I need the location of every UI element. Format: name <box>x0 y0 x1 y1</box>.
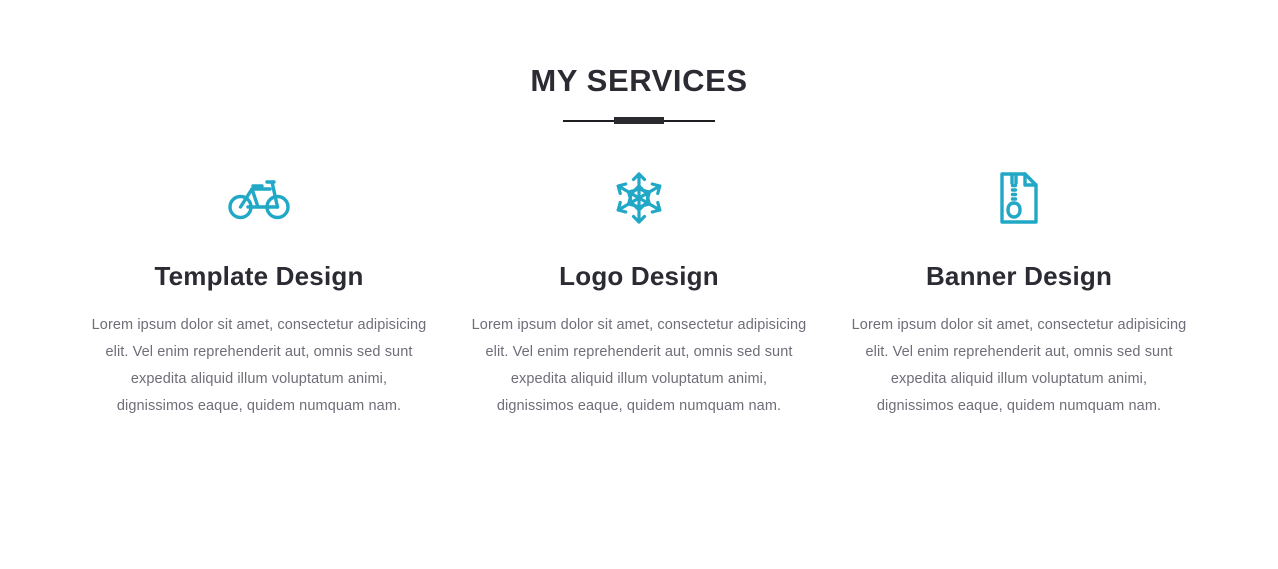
service-card-template-design[interactable]: Template Design Lorem ipsum dolor sit am… <box>69 170 449 420</box>
page-title: MY SERVICES <box>0 64 1278 98</box>
service-card-logo-design[interactable]: Logo Design Lorem ipsum dolor sit amet, … <box>449 170 829 420</box>
service-description: Lorem ipsum dolor sit amet, consectetur … <box>91 292 427 420</box>
section-divider <box>563 116 715 126</box>
service-title: Logo Design <box>471 226 807 292</box>
bicycle-icon <box>91 170 427 226</box>
service-title: Template Design <box>91 226 427 292</box>
file-archive-icon <box>851 170 1187 226</box>
service-card-banner-design[interactable]: Banner Design Lorem ipsum dolor sit amet… <box>829 170 1209 420</box>
services-grid: Template Design Lorem ipsum dolor sit am… <box>0 170 1278 420</box>
service-title: Banner Design <box>851 226 1187 292</box>
services-section: MY SERVICES Template Design <box>0 0 1278 569</box>
divider-center-bar <box>614 117 664 124</box>
service-description: Lorem ipsum dolor sit amet, consectetur … <box>471 292 807 420</box>
service-description: Lorem ipsum dolor sit amet, consectetur … <box>851 292 1187 420</box>
snowflake-icon <box>471 170 807 226</box>
section-header: MY SERVICES <box>0 0 1278 126</box>
